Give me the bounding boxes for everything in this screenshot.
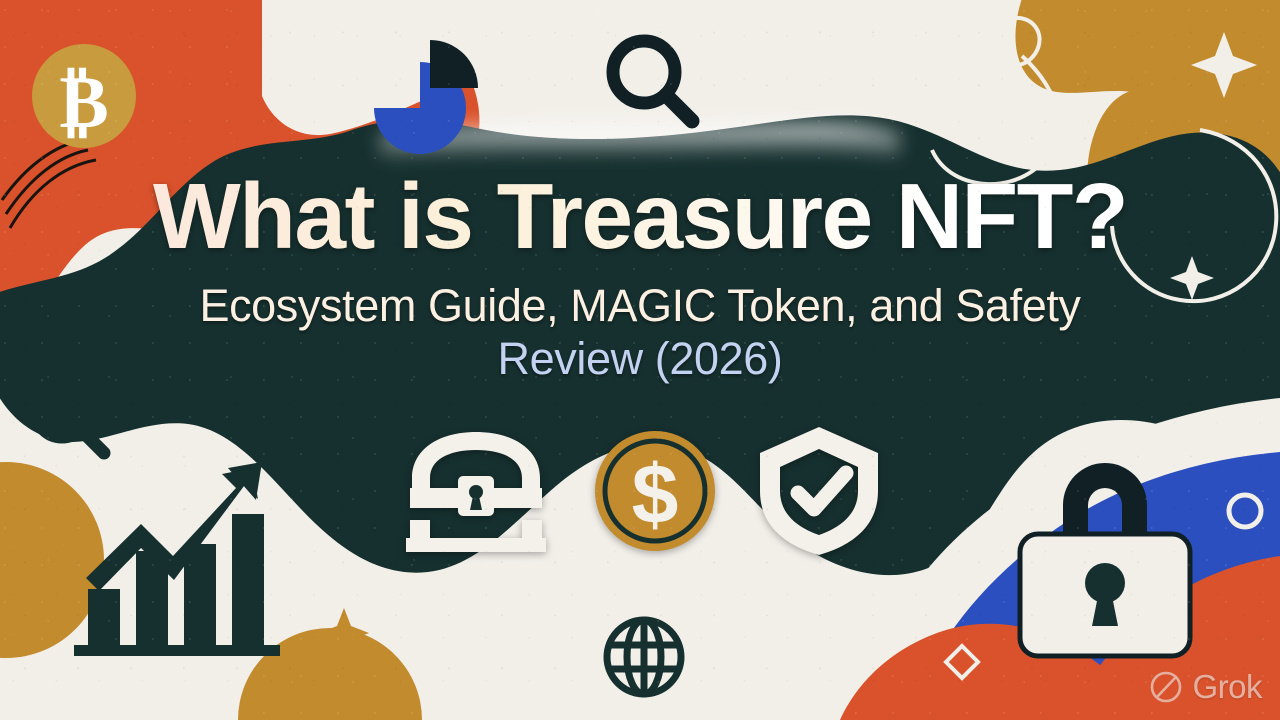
headline-group: What is Treasure NFT? Ecosystem Guide, M… bbox=[0, 168, 1280, 387]
treasure-chest-icon bbox=[396, 426, 556, 556]
svg-text:₿: ₿ bbox=[59, 62, 108, 144]
sparkle-icon-white-top bbox=[1191, 32, 1257, 98]
page-title: What is Treasure NFT? bbox=[0, 168, 1280, 265]
pie-chart-icon bbox=[374, 40, 478, 154]
svg-text:$: $ bbox=[632, 447, 679, 541]
subtitle-line-2: Review (2026) bbox=[0, 332, 1280, 387]
feature-icon-row: $ bbox=[0, 418, 1280, 563]
bitcoin-coin-icon: ₿ bbox=[32, 44, 136, 148]
grok-watermark: Grok bbox=[1149, 668, 1262, 706]
banner-canvas: ₿ bbox=[0, 0, 1280, 720]
shield-check-icon bbox=[754, 423, 884, 559]
diamond-outline-icon bbox=[946, 646, 978, 678]
grok-logo-icon bbox=[1149, 670, 1183, 704]
search-icon-top bbox=[613, 41, 692, 121]
sparkle-icon-gold bbox=[319, 608, 369, 658]
globe-icon bbox=[607, 620, 681, 694]
dollar-coin-icon: $ bbox=[590, 426, 720, 556]
grok-watermark-text: Grok bbox=[1192, 668, 1262, 706]
subtitle-line-1: Ecosystem Guide, MAGIC Token, and Safety bbox=[0, 279, 1280, 334]
